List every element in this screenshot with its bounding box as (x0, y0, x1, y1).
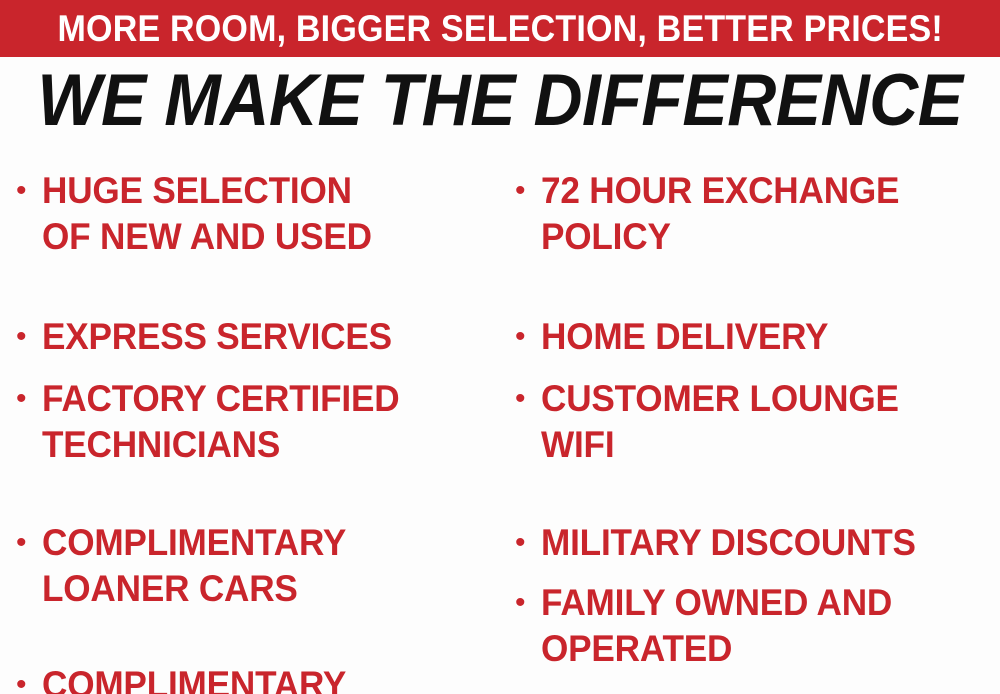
bullet-dot-icon: • (515, 376, 541, 422)
bullet-dot-icon: • (16, 520, 42, 566)
bullet-dot-icon: • (515, 580, 541, 626)
benefits-column-left: • HUGE SELECTION OF NEW AND USED • EXPRE… (0, 160, 505, 694)
bullet-dot-icon: • (16, 662, 42, 694)
list-item: • FAMILY OWNED AND OPERATED (515, 580, 1000, 672)
list-item-label: MILITARY DISCOUNTS (541, 520, 977, 566)
dealership-benefits-ad: MORE ROOM, BIGGER SELECTION, BETTER PRIC… (0, 0, 1000, 694)
bullet-dot-icon: • (16, 376, 42, 422)
benefits-columns: • HUGE SELECTION OF NEW AND USED • EXPRE… (0, 160, 1000, 694)
list-item: • EXPRESS SERVICES (16, 314, 505, 360)
list-item-label: 72 HOUR EXCHANGE POLICY (541, 168, 977, 260)
list-item: • COMPLIMENTARY LOANER CARS (16, 520, 505, 612)
list-item: • HOME DELIVERY (515, 314, 1000, 360)
list-item: • HUGE SELECTION OF NEW AND USED (16, 168, 505, 260)
list-item-label: HOME DELIVERY (541, 314, 977, 360)
list-item: • MILITARY DISCOUNTS (515, 520, 1000, 566)
bullet-dot-icon: • (16, 314, 42, 360)
list-item-label: FACTORY CERTIFIED TECHNICIANS (42, 376, 482, 468)
list-item-label: COMPLIMENTARY LOANER CARS (42, 520, 482, 612)
list-item: • 72 HOUR EXCHANGE POLICY (515, 168, 1000, 260)
list-item: • FACTORY CERTIFIED TECHNICIANS (16, 376, 505, 468)
list-item: • COMPLIMENTARY SHUTTLE SERVICE (16, 662, 505, 694)
top-ribbon: MORE ROOM, BIGGER SELECTION, BETTER PRIC… (0, 0, 1000, 57)
ribbon-headline-text: MORE ROOM, BIGGER SELECTION, BETTER PRIC… (57, 10, 942, 47)
list-item-label: COMPLIMENTARY SHUTTLE SERVICE (42, 662, 482, 694)
list-item-label: CUSTOMER LOUNGE WIFI (541, 376, 977, 468)
bullet-dot-icon: • (515, 168, 541, 214)
list-item-label: EXPRESS SERVICES (42, 314, 482, 360)
bullet-dot-icon: • (515, 520, 541, 566)
bullet-dot-icon: • (515, 314, 541, 360)
bullet-dot-icon: • (16, 168, 42, 214)
list-item: • CUSTOMER LOUNGE WIFI (515, 376, 1000, 468)
page-title: WE MAKE THE DIFFERENCE (35, 62, 965, 140)
list-item-label: FAMILY OWNED AND OPERATED (541, 580, 977, 672)
list-item-label: HUGE SELECTION OF NEW AND USED (42, 168, 482, 260)
benefits-column-right: • 72 HOUR EXCHANGE POLICY • HOME DELIVER… (505, 160, 1000, 694)
